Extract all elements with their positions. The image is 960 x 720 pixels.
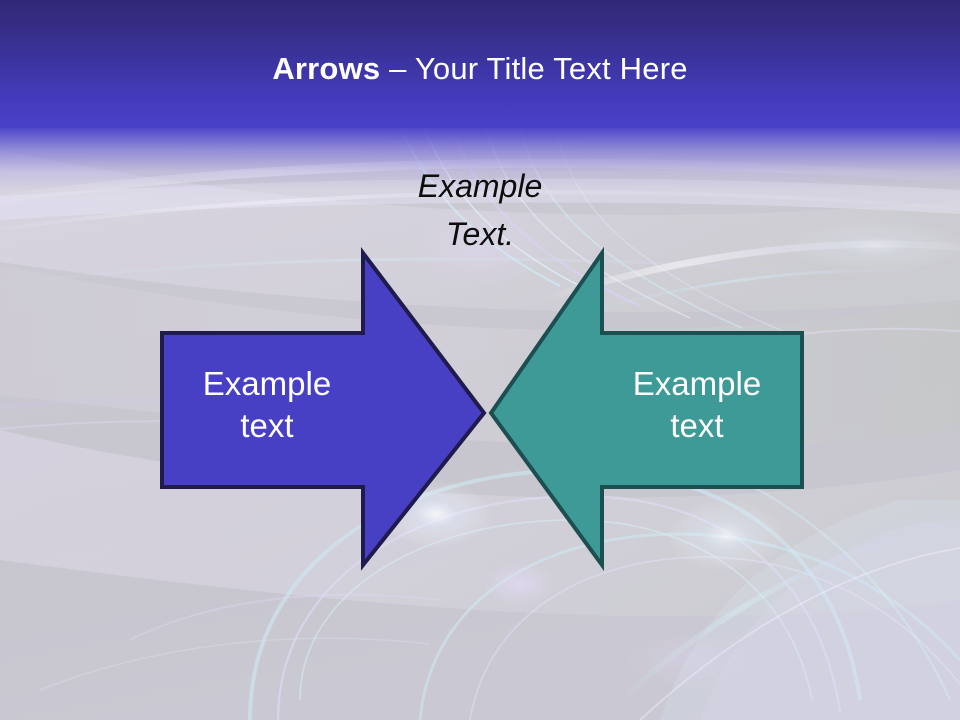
slide-canvas: Arrows – Your Title Text Here Example Te…	[0, 0, 960, 720]
left-arrow-label-line-1: Example	[162, 363, 372, 405]
right-arrow-label-line-2: text	[592, 405, 802, 447]
left-arrow-label-line-2: text	[162, 405, 372, 447]
left-arrow-label: Example text	[162, 363, 372, 447]
right-arrow-label: Example text	[592, 363, 802, 447]
right-arrow-label-line-1: Example	[592, 363, 802, 405]
